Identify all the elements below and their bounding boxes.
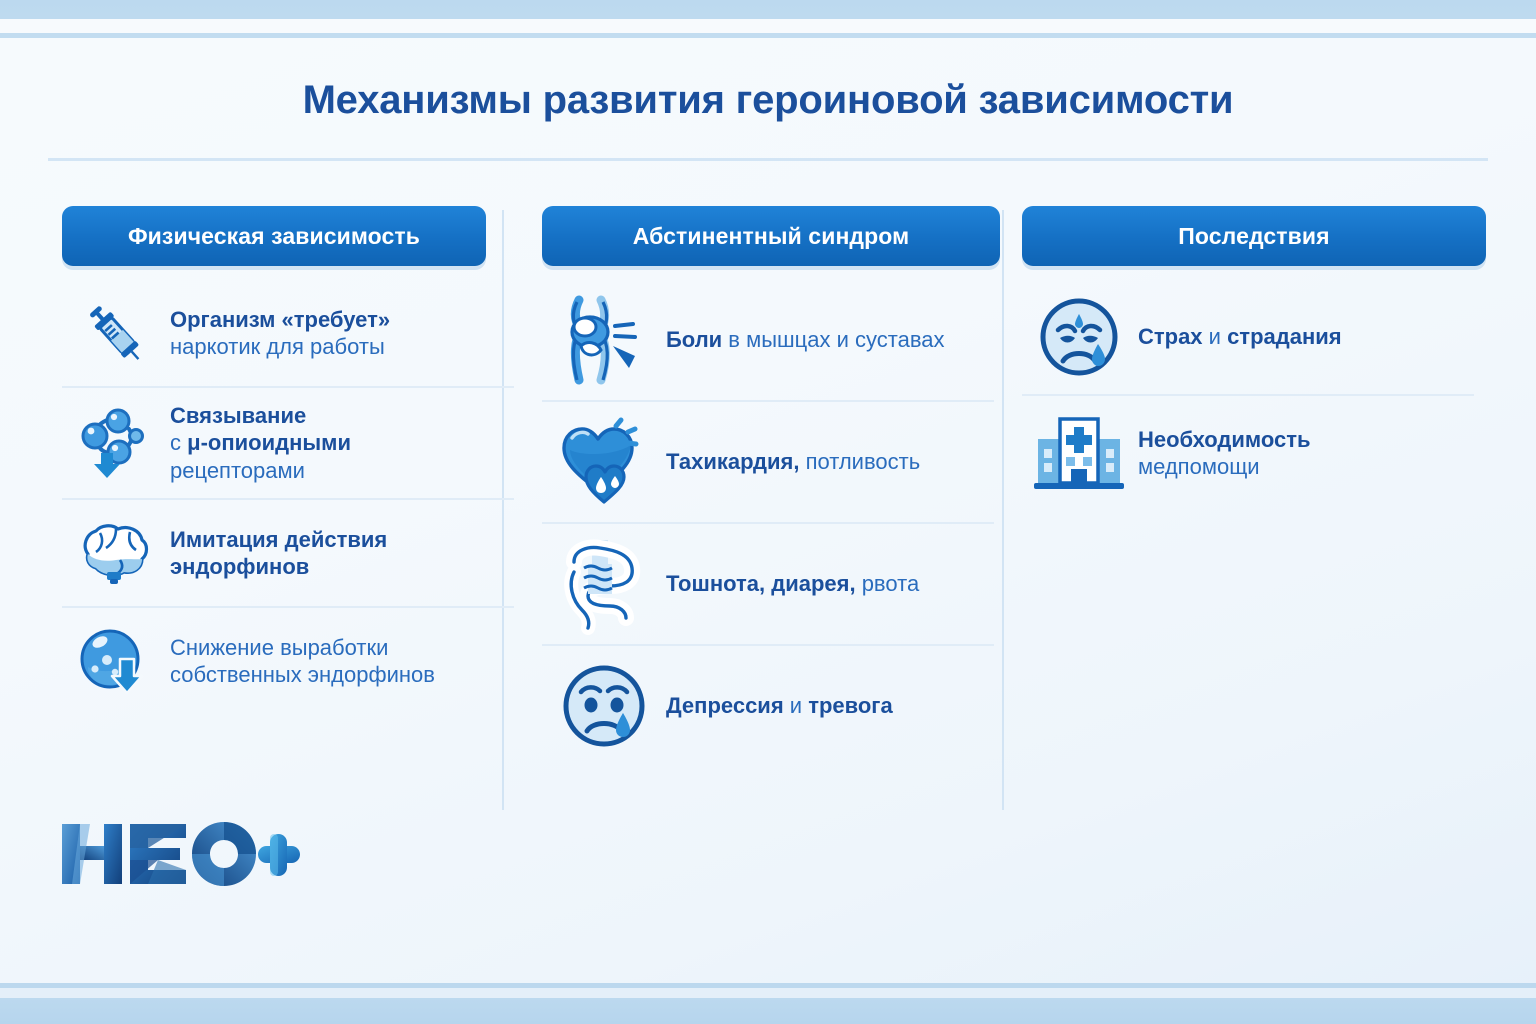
column-header-withdrawal-syndrome[interactable]: Абстинентный синдром	[542, 206, 1000, 266]
list-item[interactable]: Страх и страдания	[1022, 280, 1474, 396]
brain-icon	[76, 514, 154, 592]
endorphin-decline-icon	[76, 622, 154, 700]
list-item[interactable]: Депрессия и тревога	[542, 646, 994, 766]
list-item-label: Имитация действия эндорфинов	[170, 526, 387, 581]
list-item-label: Депрессия и тревога	[666, 692, 893, 719]
heart-sweat-icon	[558, 416, 650, 508]
page-title: Механизмы развития героиновой зависимост…	[0, 78, 1536, 123]
list-item-label: Снижение выработки собственных эндорфино…	[170, 634, 435, 689]
columns-container: Физическая зависимость	[48, 206, 1488, 816]
column-consequences: Последствия	[1008, 206, 1488, 816]
title-underline-rule	[48, 158, 1488, 161]
bottom-band-gap	[0, 988, 1536, 998]
list-item-label: Необходимость медпомощи	[1138, 426, 1311, 481]
list-item[interactable]: Необходимость медпомощи	[1022, 396, 1474, 510]
list-item-label: Тошнота, диарея, рвота	[666, 570, 919, 597]
list-item[interactable]: Организм «требует» наркотик для работы	[62, 280, 514, 388]
item-list-physical-dependence: Организм «требует» наркотик для работы	[62, 280, 514, 714]
column-physical-dependence: Физическая зависимость	[48, 206, 528, 816]
syringe-icon	[76, 294, 154, 372]
list-item[interactable]: Связывание с μ-опиоидными рецепторами	[62, 388, 514, 500]
infographic-poster: Механизмы развития героиновой зависимост…	[0, 0, 1536, 1024]
list-item[interactable]: Тошнота, диарея, рвота	[542, 524, 994, 646]
item-list-withdrawal-syndrome: Боли в мышцах и суставах	[542, 280, 994, 766]
list-item[interactable]: Тахикардия, потливость	[542, 402, 994, 524]
hospital-icon	[1036, 410, 1122, 496]
column-header-physical-dependence[interactable]: Физическая зависимость	[62, 206, 486, 266]
knee-joint-pain-icon	[558, 294, 650, 386]
molecule-binding-icon	[76, 404, 154, 482]
brand-logo[interactable]	[60, 818, 300, 890]
column-header-consequences[interactable]: Последствия	[1022, 206, 1486, 266]
top-band-gap	[0, 19, 1536, 33]
list-item-label: Организм «требует» наркотик для работы	[170, 306, 390, 361]
top-decorative-band	[0, 0, 1536, 19]
top-rule-line	[0, 33, 1536, 38]
item-list-consequences: Страх и страдания	[1022, 280, 1474, 510]
column-withdrawal-syndrome: Абстинентный синдром	[528, 206, 1008, 816]
list-item-label: Связывание с μ-опиоидными рецепторами	[170, 402, 351, 484]
list-item-label: Страх и страдания	[1138, 323, 1342, 350]
intestines-icon	[558, 538, 650, 630]
list-item-label: Тахикардия, потливость	[666, 448, 920, 475]
list-item[interactable]: Снижение выработки собственных эндорфино…	[62, 608, 514, 714]
crying-face-icon	[1036, 294, 1122, 380]
list-item[interactable]: Имитация действия эндорфинов	[62, 500, 514, 608]
list-item-label: Боли в мышцах и суставах	[666, 326, 945, 353]
sad-face-tear-icon	[558, 660, 650, 752]
list-item[interactable]: Боли в мышцах и суставах	[542, 280, 994, 402]
bottom-decorative-band	[0, 998, 1536, 1024]
